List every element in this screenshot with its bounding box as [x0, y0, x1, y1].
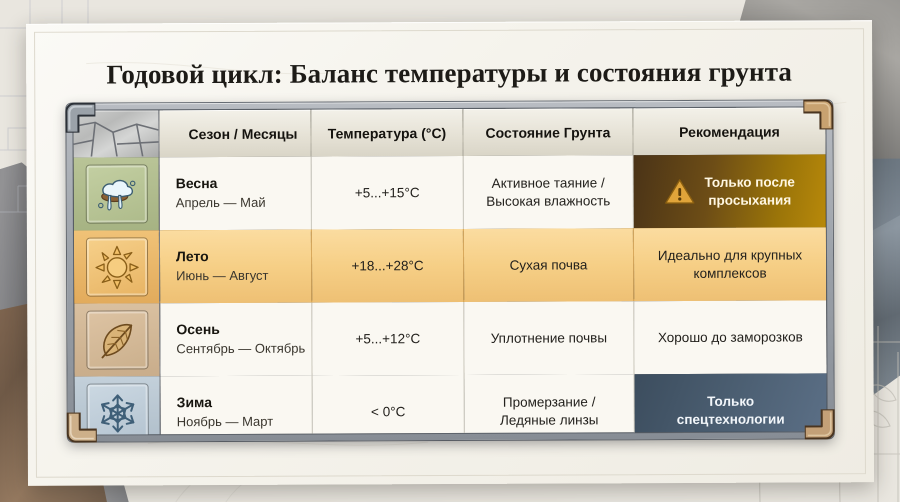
soil-line-1: Активное таяние / [486, 175, 610, 193]
warning-triangle-icon [664, 178, 694, 205]
recommendation-cell: Только спецтехнологии [635, 373, 827, 434]
season-months: Апрель — Май [176, 195, 266, 212]
season-name: Весна [176, 175, 266, 193]
table-row-winter[interactable]: Зима Ноябрь — Март < 0°C Промерзание / Л… [75, 373, 827, 434]
temperature-cell: +18...+28°C [312, 229, 464, 303]
recommendation-line-2: просыхания [705, 191, 795, 209]
recommendation-cell: Идеально для крупных комплексов [634, 227, 826, 301]
leaf-icon [96, 319, 138, 361]
recommendation-line-1: Идеально для крупных [658, 247, 802, 265]
leather-corner-bracket-icon [805, 409, 838, 442]
season-icon-cell [74, 303, 160, 376]
table-row-spring[interactable]: Весна Апрель — Май +5...+15°C Активное т… [74, 154, 826, 230]
recommendation-line-1: Только [677, 393, 785, 411]
soil-state-cell: Промерзание / Ледяные линзы [465, 374, 635, 434]
recommendation-line-2: комплексов [658, 264, 802, 282]
melting-snow-icon [94, 174, 138, 214]
table-frame: Сезон / Месяцы Температура (°C) Состояни… [66, 100, 833, 441]
season-name-cell: Весна Апрель — Май [160, 157, 312, 231]
header-soil-state: Состояние Грунта [463, 108, 633, 156]
season-name-cell: Осень Сентябрь — Октябрь [160, 303, 312, 377]
soil-state-cell: Активное таяние / Высокая влажность [464, 155, 634, 229]
recommendation-line-1: Только после [704, 174, 794, 192]
sun-icon [94, 245, 138, 289]
season-name-cell: Зима Ноябрь — Март [161, 376, 313, 435]
season-months: Сентябрь — Октябрь [176, 341, 305, 358]
table-row-summer[interactable]: Лето Июнь — Август +18...+28°C Сухая поч… [74, 227, 826, 303]
season-name: Лето [176, 248, 268, 266]
soil-state-cell: Сухая почва [464, 228, 634, 302]
season-months: Июнь — Август [176, 268, 268, 285]
header-recommendation: Рекомендация [633, 107, 825, 155]
soil-line-1: Промерзание / [500, 394, 599, 412]
header-season: Сезон / Месяцы [159, 110, 311, 158]
table-header-row: Сезон / Месяцы Температура (°C) Состояни… [73, 107, 825, 157]
page-title: Годовой цикл: Баланс температуры и состо… [26, 56, 872, 91]
season-icon-cell [74, 157, 160, 230]
recommendation-cell: Хорошо до заморозков [634, 300, 826, 374]
soil-state-cell: Уплотнение почвы [464, 301, 634, 375]
temperature-cell: +5...+15°C [312, 156, 464, 230]
recommendation-cell: Только после просыхания [634, 154, 826, 228]
leather-corner-bracket-icon [803, 96, 836, 129]
season-name: Зима [177, 394, 274, 412]
season-months: Ноябрь — Март [177, 414, 274, 431]
soil-line-2: Высокая влажность [486, 192, 610, 210]
paper-card: Годовой цикл: Баланс температуры и состо… [26, 20, 874, 486]
stone-corner-bracket-icon [62, 100, 95, 133]
soil-line-2: Ледяные линзы [500, 411, 599, 429]
temperature-cell: +5...+12°C [312, 302, 464, 376]
snowflake-icon [95, 391, 139, 435]
season-icon-cell [74, 230, 160, 303]
temperature-cell: < 0°C [313, 375, 465, 435]
season-name-cell: Лето Июнь — Август [160, 230, 312, 304]
recommendation-line-2: спецтехнологии [677, 410, 785, 428]
header-temperature: Температура (°C) [311, 109, 463, 157]
table-body-container: Сезон / Месяцы Температура (°C) Состояни… [73, 107, 826, 434]
table-row-autumn[interactable]: Осень Сентябрь — Октябрь +5...+12°C Упло… [74, 300, 826, 376]
season-name: Осень [176, 321, 305, 339]
leather-corner-bracket-icon [64, 413, 97, 446]
